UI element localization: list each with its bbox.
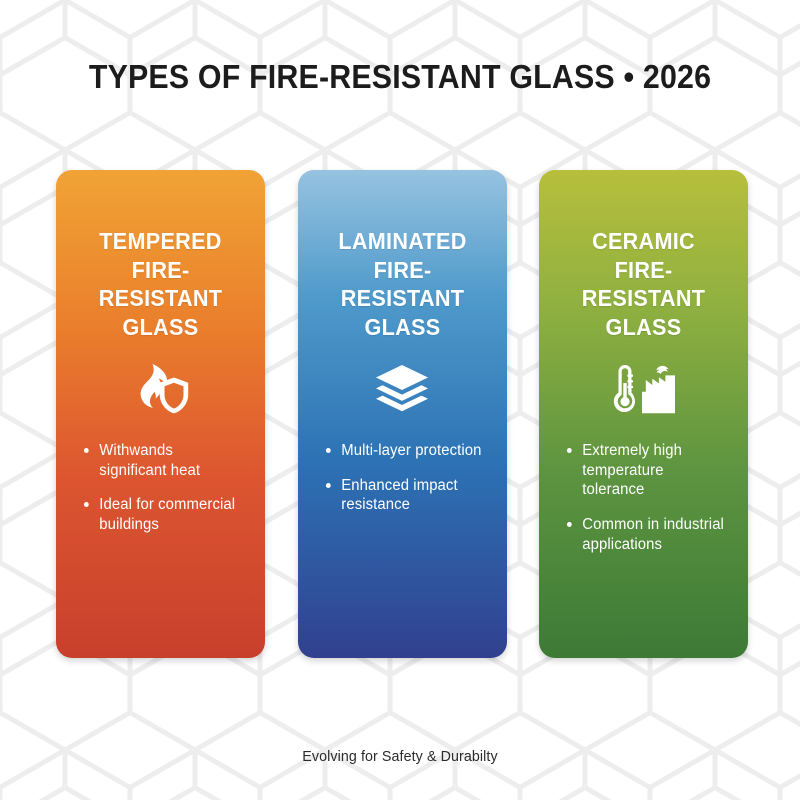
list-item: Enhanced impact resistance (324, 476, 484, 515)
bullet-list-tempered: Withwands significant heat Ideal for com… (72, 441, 249, 550)
fire-shield-icon (130, 363, 192, 415)
list-item: Withwands significant heat (82, 441, 242, 480)
bullet-list-ceramic: Extremely high temperature tolerance Com… (555, 441, 732, 569)
footer-tagline: Evolving for Safety & Durabilty (20, 748, 780, 765)
list-item: Multi-layer protection (324, 441, 484, 461)
card-laminated[interactable]: LAMINATED FIRE-RESISTANT GLASS Multi-lay… (298, 170, 507, 658)
bullet-list-laminated: Multi-layer protection Enhanced impact r… (314, 441, 491, 530)
card-row: TEMPERED FIRE-RESISTANT GLASS Withwands … (56, 170, 748, 658)
page-title: TYPES OF FIRE-RESISTANT GLASS • 2026 (32, 58, 768, 96)
list-item: Extremely high temperature tolerance (565, 441, 725, 500)
list-item: Ideal for commercial buildings (82, 495, 242, 534)
card-title-tempered: TEMPERED FIRE-RESISTANT GLASS (77, 227, 243, 341)
card-title-ceramic: CERAMIC FIRE-RESISTANT GLASS (560, 227, 726, 341)
thermometer-factory-icon (611, 363, 677, 415)
card-title-laminated: LAMINATED FIRE-RESISTANT GLASS (319, 227, 485, 341)
layers-icon (374, 363, 430, 415)
list-item: Common in industrial applications (565, 515, 725, 554)
card-ceramic[interactable]: CERAMIC FIRE-RESISTANT GLASS Extremel (539, 170, 748, 658)
card-tempered[interactable]: TEMPERED FIRE-RESISTANT GLASS Withwands … (56, 170, 265, 658)
